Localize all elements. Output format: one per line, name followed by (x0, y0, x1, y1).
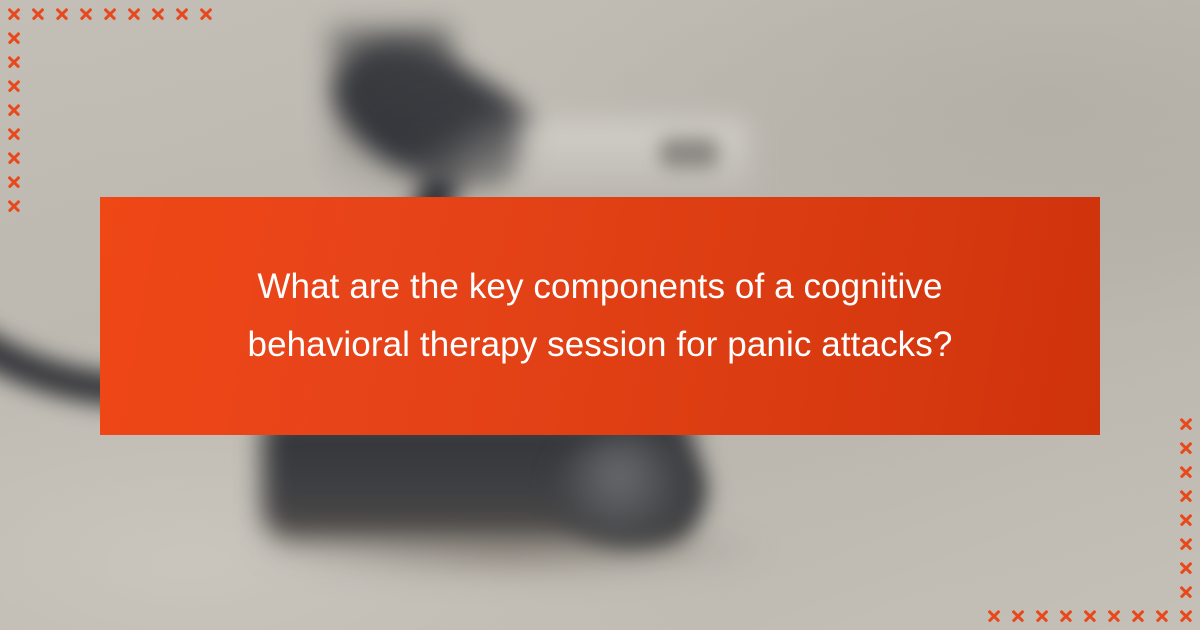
decoration-x-marker (98, 98, 122, 122)
decoration-x-marker (1174, 604, 1198, 628)
decoration-x-marker (1150, 556, 1174, 580)
decoration-x-marker (98, 170, 122, 194)
decoration-x-marker (1006, 508, 1030, 532)
decoration-x-marker (194, 74, 218, 98)
decoration-x-marker (1150, 460, 1174, 484)
decoration-x-marker (982, 460, 1006, 484)
decoration-x-marker (122, 170, 146, 194)
decoration-x-marker (74, 2, 98, 26)
decoration-x-marker (1174, 412, 1198, 436)
decoration-x-marker (26, 146, 50, 170)
decoration-x-marker (1078, 604, 1102, 628)
decoration-x-marker (26, 194, 50, 218)
decoration-x-marker (50, 170, 74, 194)
decoration-x-marker (1126, 556, 1150, 580)
decoration-x-marker (74, 170, 98, 194)
decoration-x-marker (1030, 508, 1054, 532)
decoration-x-marker (1102, 556, 1126, 580)
decoration-x-marker (74, 50, 98, 74)
decoration-x-marker (170, 2, 194, 26)
decoration-x-marker (1174, 556, 1198, 580)
decoration-x-marker (1030, 484, 1054, 508)
decoration-x-marker (74, 26, 98, 50)
decoration-x-marker (1174, 436, 1198, 460)
decoration-x-marker (50, 50, 74, 74)
decoration-x-marker (170, 98, 194, 122)
decoration-x-marker (50, 122, 74, 146)
decoration-x-marker (1054, 556, 1078, 580)
decoration-x-marker (1030, 556, 1054, 580)
decoration-x-marker (1078, 484, 1102, 508)
decoration-x-marker (1126, 508, 1150, 532)
decoration-x-marker (170, 74, 194, 98)
decoration-x-marker (1078, 508, 1102, 532)
decoration-x-marker (50, 74, 74, 98)
decoration-x-marker (194, 146, 218, 170)
decoration-x-marker (26, 50, 50, 74)
decoration-x-marker (50, 194, 74, 218)
decoration-x-marker (26, 2, 50, 26)
decoration-x-marker (1030, 580, 1054, 604)
decoration-x-marker (1102, 508, 1126, 532)
decoration-x-marker (146, 74, 170, 98)
decoration-x-marker (194, 170, 218, 194)
decoration-x-marker (1078, 556, 1102, 580)
decoration-x-marker (2, 74, 26, 98)
decoration-x-marker (194, 122, 218, 146)
decoration-x-marker (1006, 484, 1030, 508)
decoration-x-marker (50, 146, 74, 170)
decoration-x-marker (194, 26, 218, 50)
decoration-x-marker (1102, 484, 1126, 508)
decoration-x-marker (170, 170, 194, 194)
decoration-x-marker (122, 122, 146, 146)
decoration-x-marker (98, 26, 122, 50)
decoration-x-marker (982, 436, 1006, 460)
decoration-x-marker (1126, 436, 1150, 460)
decoration-x-marker (26, 26, 50, 50)
decoration-x-marker (122, 146, 146, 170)
decoration-x-marker (170, 26, 194, 50)
decoration-x-marker (1102, 412, 1126, 436)
decoration-x-marker (1174, 532, 1198, 556)
decoration-x-marker (1030, 436, 1054, 460)
decoration-x-marker (1126, 580, 1150, 604)
decoration-x-marker (26, 74, 50, 98)
decoration-x-marker (1030, 532, 1054, 556)
decoration-x-marker (1030, 604, 1054, 628)
decoration-x-marker (1054, 508, 1078, 532)
decoration-x-marker (1078, 436, 1102, 460)
decoration-x-marker (26, 98, 50, 122)
decoration-x-marker (2, 26, 26, 50)
decoration-x-marker (194, 50, 218, 74)
decoration-x-marker (1150, 508, 1174, 532)
decoration-x-marker (98, 50, 122, 74)
decoration-x-marker (1150, 580, 1174, 604)
decoration-x-marker (74, 98, 98, 122)
decoration-x-marker (1150, 532, 1174, 556)
decoration-x-marker (74, 122, 98, 146)
decoration-x-marker (2, 98, 26, 122)
decoration-x-marker (1078, 460, 1102, 484)
decoration-x-marker (1126, 604, 1150, 628)
decoration-x-marker (170, 122, 194, 146)
decoration-x-marker (170, 146, 194, 170)
decoration-x-marker (2, 2, 26, 26)
decoration-x-marker (982, 580, 1006, 604)
decoration-x-marker (1054, 436, 1078, 460)
decoration-x-marker (1150, 412, 1174, 436)
decoration-x-marker (50, 98, 74, 122)
decoration-x-marker (2, 50, 26, 74)
decoration-x-marker (1006, 460, 1030, 484)
decoration-x-marker (146, 26, 170, 50)
decoration-x-marker (98, 122, 122, 146)
decoration-x-marker (122, 74, 146, 98)
decoration-x-marker (122, 26, 146, 50)
decoration-x-marker (982, 532, 1006, 556)
decoration-x-marker (146, 170, 170, 194)
question-banner: What are the key components of a cogniti… (100, 197, 1100, 435)
decoration-x-marker (2, 122, 26, 146)
decoration-x-marker (1102, 436, 1126, 460)
decoration-x-marker (1030, 460, 1054, 484)
decoration-x-marker (1102, 460, 1126, 484)
decoration-x-marker (1078, 580, 1102, 604)
decoration-x-marker (170, 50, 194, 74)
decoration-x-marker (1174, 580, 1198, 604)
decoration-x-marker (146, 98, 170, 122)
decoration-x-marker (1054, 460, 1078, 484)
decoration-x-marker (1174, 508, 1198, 532)
decoration-x-marker (1078, 532, 1102, 556)
decoration-x-marker (1006, 532, 1030, 556)
decoration-x-marker (1006, 604, 1030, 628)
decoration-x-marker (26, 122, 50, 146)
decoration-x-marker (50, 26, 74, 50)
decoration-x-marker (146, 2, 170, 26)
decoration-x-marker (2, 194, 26, 218)
decoration-x-marker (1126, 532, 1150, 556)
decoration-x-marker (1150, 604, 1174, 628)
decoration-x-marker (50, 2, 74, 26)
decoration-x-marker (98, 74, 122, 98)
decoration-x-marker (2, 146, 26, 170)
decoration-x-grid-top-left (2, 2, 218, 218)
decoration-x-marker (194, 98, 218, 122)
decoration-x-marker (1054, 580, 1078, 604)
decoration-x-marker (1006, 436, 1030, 460)
decoration-x-marker (982, 556, 1006, 580)
decoration-x-marker (74, 74, 98, 98)
decoration-x-marker (1126, 460, 1150, 484)
decoration-x-marker (1054, 484, 1078, 508)
decoration-x-marker (98, 2, 122, 26)
decoration-x-marker (122, 50, 146, 74)
question-title: What are the key components of a cogniti… (220, 258, 980, 374)
decoration-x-marker (74, 146, 98, 170)
decoration-x-marker (982, 484, 1006, 508)
decoration-x-marker (1174, 460, 1198, 484)
decoration-x-marker (98, 146, 122, 170)
decoration-x-marker (1054, 532, 1078, 556)
decoration-x-marker (146, 122, 170, 146)
decoration-x-marker (1126, 484, 1150, 508)
decoration-x-marker (982, 604, 1006, 628)
decoration-x-marker (2, 170, 26, 194)
decoration-x-marker (1174, 484, 1198, 508)
decoration-x-marker (982, 508, 1006, 532)
decoration-x-marker (1102, 532, 1126, 556)
decoration-x-marker (1006, 580, 1030, 604)
question-card: What are the key components of a cogniti… (0, 0, 1200, 630)
decoration-x-marker (146, 50, 170, 74)
decoration-x-marker (146, 146, 170, 170)
decoration-x-marker (194, 2, 218, 26)
decoration-x-marker (1054, 604, 1078, 628)
decoration-x-marker (1150, 436, 1174, 460)
decoration-x-marker (1102, 580, 1126, 604)
decoration-x-grid-bottom-right (982, 412, 1198, 628)
decoration-x-marker (74, 194, 98, 218)
decoration-x-marker (1126, 412, 1150, 436)
decoration-x-marker (26, 170, 50, 194)
decoration-x-marker (122, 98, 146, 122)
decoration-x-marker (1102, 604, 1126, 628)
decoration-x-marker (1006, 556, 1030, 580)
decoration-x-marker (1150, 484, 1174, 508)
decoration-x-marker (122, 2, 146, 26)
